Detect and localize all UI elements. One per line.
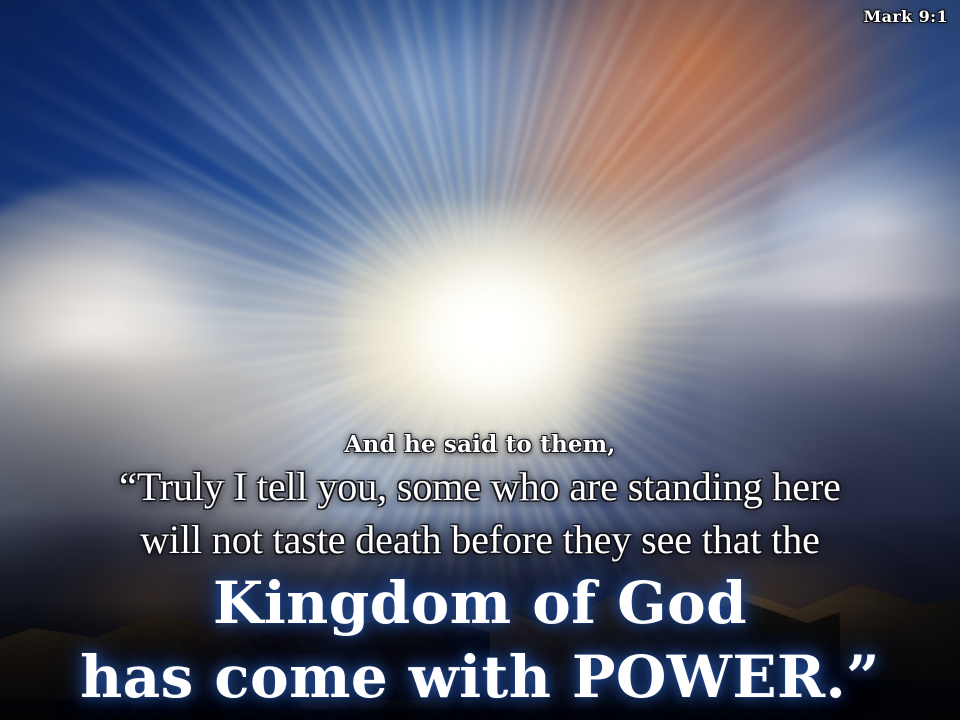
- verse-body-line-1: “Truly I tell you, some who are standing…: [0, 460, 960, 513]
- verse-text-block: And he said to them, “Truly I tell you, …: [0, 430, 960, 714]
- verse-intro-line: And he said to them,: [0, 430, 960, 460]
- verse-body-line-2: will not taste death before they see tha…: [0, 513, 960, 566]
- scripture-slide: Mark 9:1 And he said to them, “Truly I t…: [0, 0, 960, 720]
- verse-emphasis-line-1: Kingdom of God: [0, 566, 960, 640]
- verse-emphasis-line-2: has come with POWER.”: [0, 640, 960, 714]
- scripture-reference: Mark 9:1: [863, 7, 948, 26]
